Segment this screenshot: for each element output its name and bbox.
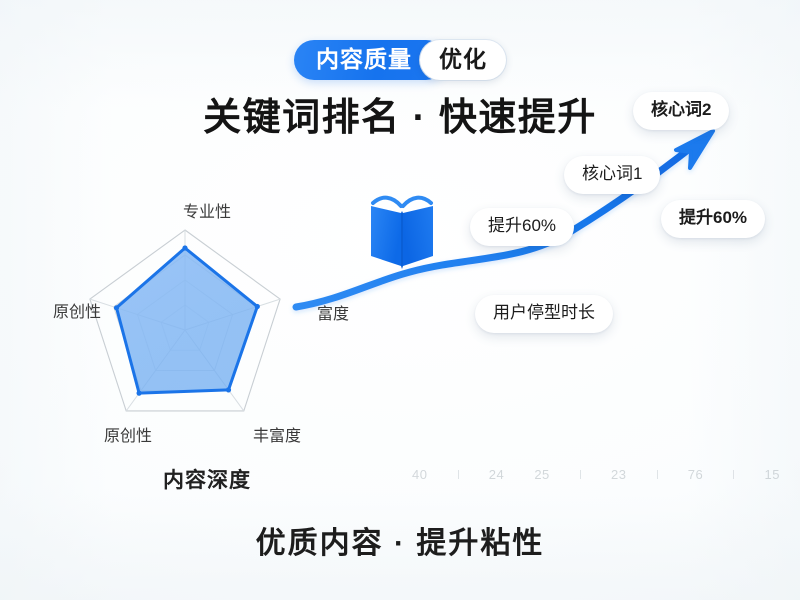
radar-axis-label-left: 原创性 (53, 298, 101, 322)
radar-caption: 内容深度 (163, 464, 251, 494)
badge-secondary: 优化 (420, 40, 506, 80)
radar-axis-label-top: 专业性 (183, 198, 231, 222)
pill-dwell-time: 用户停型时长 (475, 295, 613, 333)
infographic-canvas: 专业性 富度 丰富度 原创性 原创性 内容深度 内容质量 优化 关键词排 (0, 0, 800, 600)
radar-data-polygon (117, 248, 258, 393)
axis-value: 25 (534, 467, 549, 482)
axis-value: 40 (412, 467, 427, 482)
axis-tick-icon (657, 470, 658, 479)
axis-value: 15 (764, 467, 779, 482)
faint-axis-strip: 40 24 25 23 76 15 (412, 462, 780, 486)
pill-core-keyword-2: 核心词2 (633, 92, 729, 130)
axis-tick-icon (580, 470, 581, 479)
pill-uplift-right: 提升60% (661, 200, 765, 238)
radar-chart (55, 222, 315, 442)
axis-value: 23 (611, 467, 626, 482)
book-page-curl-right (403, 198, 431, 206)
book-cover-left (371, 206, 401, 266)
radar-axis-label-bottom-left: 原创性 (104, 422, 152, 446)
axis-value: 76 (688, 467, 703, 482)
pill-uplift-left: 提升60% (470, 208, 574, 246)
axis-tick-icon (458, 470, 459, 479)
radar-axis-label-right: 富度 (317, 300, 349, 324)
radar-axis-label-bottom-right: 丰富度 (253, 422, 301, 446)
open-book-icon (368, 186, 436, 274)
book-spine (401, 211, 403, 269)
pill-core-keyword-1: 核心词1 (564, 156, 660, 194)
page-subtitle: 优质内容 · 提升粘性 (0, 518, 800, 562)
book-page-curl-left (373, 198, 401, 206)
badge-group: 内容质量 优化 (0, 40, 800, 80)
axis-value: 24 (489, 467, 504, 482)
book-cover-right (403, 206, 433, 266)
axis-tick-icon (733, 470, 734, 479)
